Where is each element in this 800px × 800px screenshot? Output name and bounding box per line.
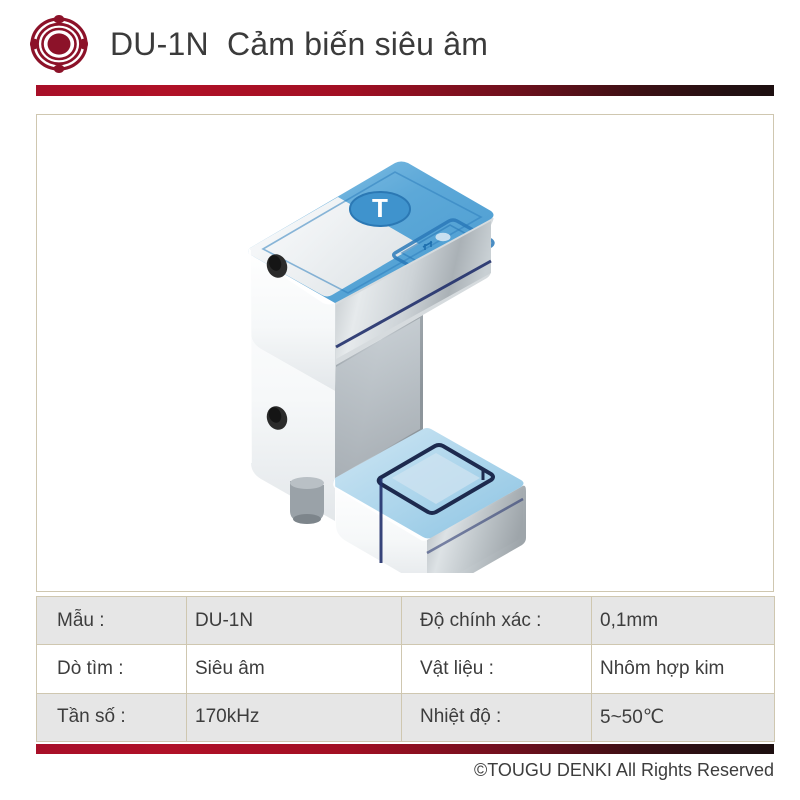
cable-connector-top bbox=[290, 477, 324, 489]
spec-value: Nhôm hợp kim bbox=[592, 645, 775, 693]
product-photo-ultrasonic-fork-sensor: T bbox=[195, 133, 615, 573]
product-image-panel: T bbox=[36, 114, 774, 592]
product-spec-page: DU-1N Cảm biến siêu âm bbox=[0, 0, 800, 800]
spec-value: Siêu âm bbox=[187, 645, 402, 693]
specification-table: Mẫu : DU-1N Độ chính xác : 0,1mm Dò tìm … bbox=[36, 596, 775, 742]
spec-value: DU-1N bbox=[187, 597, 402, 645]
spec-value: 170kHz bbox=[187, 693, 402, 741]
header-accent-bar bbox=[36, 85, 774, 96]
spec-value: 0,1mm bbox=[592, 597, 775, 645]
company-logo bbox=[28, 13, 90, 75]
brand-badge-letter: T bbox=[372, 193, 388, 223]
page-header: DU-1N Cảm biến siêu âm bbox=[0, 0, 800, 88]
footer-accent-bar bbox=[36, 744, 774, 754]
spec-label: Dò tìm : bbox=[37, 645, 187, 693]
spec-label: Tần số : bbox=[37, 693, 187, 741]
table-row: Dò tìm : Siêu âm Vật liệu : Nhôm hợp kim bbox=[37, 645, 775, 693]
spec-label: Độ chính xác : bbox=[402, 597, 592, 645]
edge-highlight-left bbox=[250, 250, 251, 463]
led-indicator-1 bbox=[436, 233, 451, 241]
spec-label: Nhiệt độ : bbox=[402, 693, 592, 741]
target-rings-logo-icon bbox=[28, 13, 90, 75]
spec-label: Mẫu : bbox=[37, 597, 187, 645]
product-image-stage: T bbox=[37, 115, 773, 591]
cable-connector-bottom bbox=[293, 514, 321, 524]
copyright-notice: ©TOUGU DENKI All Rights Reserved bbox=[0, 760, 800, 781]
spec-value: 5~50℃ bbox=[592, 693, 775, 741]
table-row: Tần số : 170kHz Nhiệt độ : 5~50℃ bbox=[37, 693, 775, 741]
table-row: Mẫu : DU-1N Độ chính xác : 0,1mm bbox=[37, 597, 775, 645]
spec-label: Vật liệu : bbox=[402, 645, 592, 693]
page-title: DU-1N Cảm biến siêu âm bbox=[110, 22, 488, 66]
